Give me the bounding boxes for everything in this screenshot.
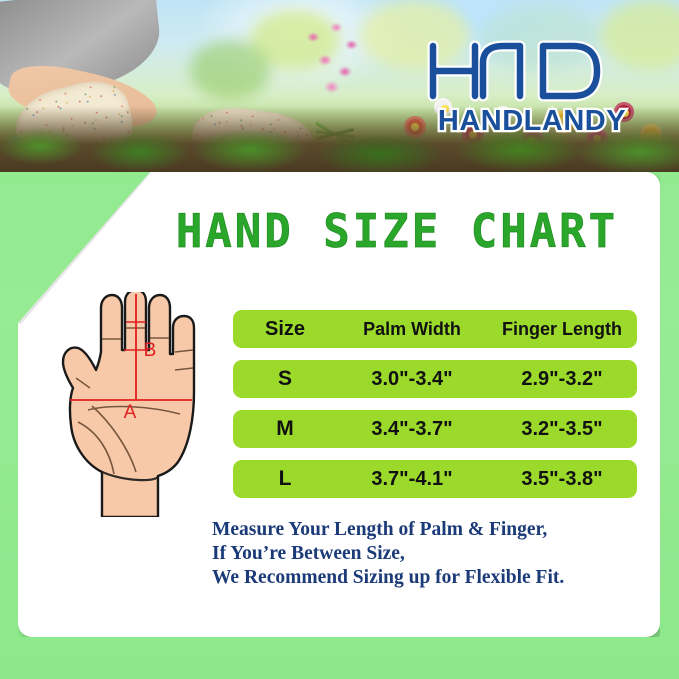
cell-size: M bbox=[233, 417, 337, 441]
infographic-canvas: HANDLANDY HAND SIZE CHART bbox=[0, 0, 679, 679]
table-row: S 3.0"-3.4" 2.9"-3.2" bbox=[233, 360, 637, 398]
note-line-1: Measure Your Length of Palm & Finger, bbox=[212, 518, 642, 542]
cell-finger-length: 3.5"-3.8" bbox=[487, 468, 637, 491]
cell-finger-length: 3.2"-3.5" bbox=[487, 418, 637, 441]
finger-length-label: B bbox=[144, 340, 157, 361]
table-row: M 3.4"-3.7" 3.2"-3.5" bbox=[233, 410, 637, 448]
cell-palm-width: 3.0"-3.4" bbox=[337, 368, 487, 391]
note-line-2: If You’re Between Size, bbox=[212, 542, 642, 566]
cell-palm-width: 3.7"-4.1" bbox=[337, 468, 487, 491]
cell-size: S bbox=[233, 367, 337, 391]
hand-measurement-diagram: A B bbox=[40, 292, 220, 517]
page-title: HAND SIZE CHART bbox=[147, 204, 647, 258]
logo-wordmark: HANDLANDY bbox=[438, 105, 626, 137]
handlandy-logo: HANDLANDY bbox=[425, 38, 639, 138]
foliage-blob bbox=[190, 40, 270, 100]
sizing-instructions: Measure Your Length of Palm & Finger, If… bbox=[212, 518, 642, 590]
table-row: L 3.7"-4.1" 3.5"-3.8" bbox=[233, 460, 637, 498]
cell-size: L bbox=[233, 467, 337, 491]
header-cell-finger-length: Finger Length bbox=[487, 319, 637, 340]
header-cell-size: Size bbox=[233, 318, 337, 341]
cell-finger-length: 2.9"-3.2" bbox=[487, 368, 637, 391]
header-cell-palm-width: Palm Width bbox=[337, 319, 487, 340]
note-line-3: We Recommend Sizing up for Flexible Fit. bbox=[212, 566, 642, 590]
table-header-row: Size Palm Width Finger Length bbox=[233, 310, 637, 348]
size-table: Size Palm Width Finger Length S 3.0"-3.4… bbox=[233, 310, 637, 510]
cell-palm-width: 3.4"-3.7" bbox=[337, 418, 487, 441]
palm-width-label: A bbox=[124, 402, 137, 423]
